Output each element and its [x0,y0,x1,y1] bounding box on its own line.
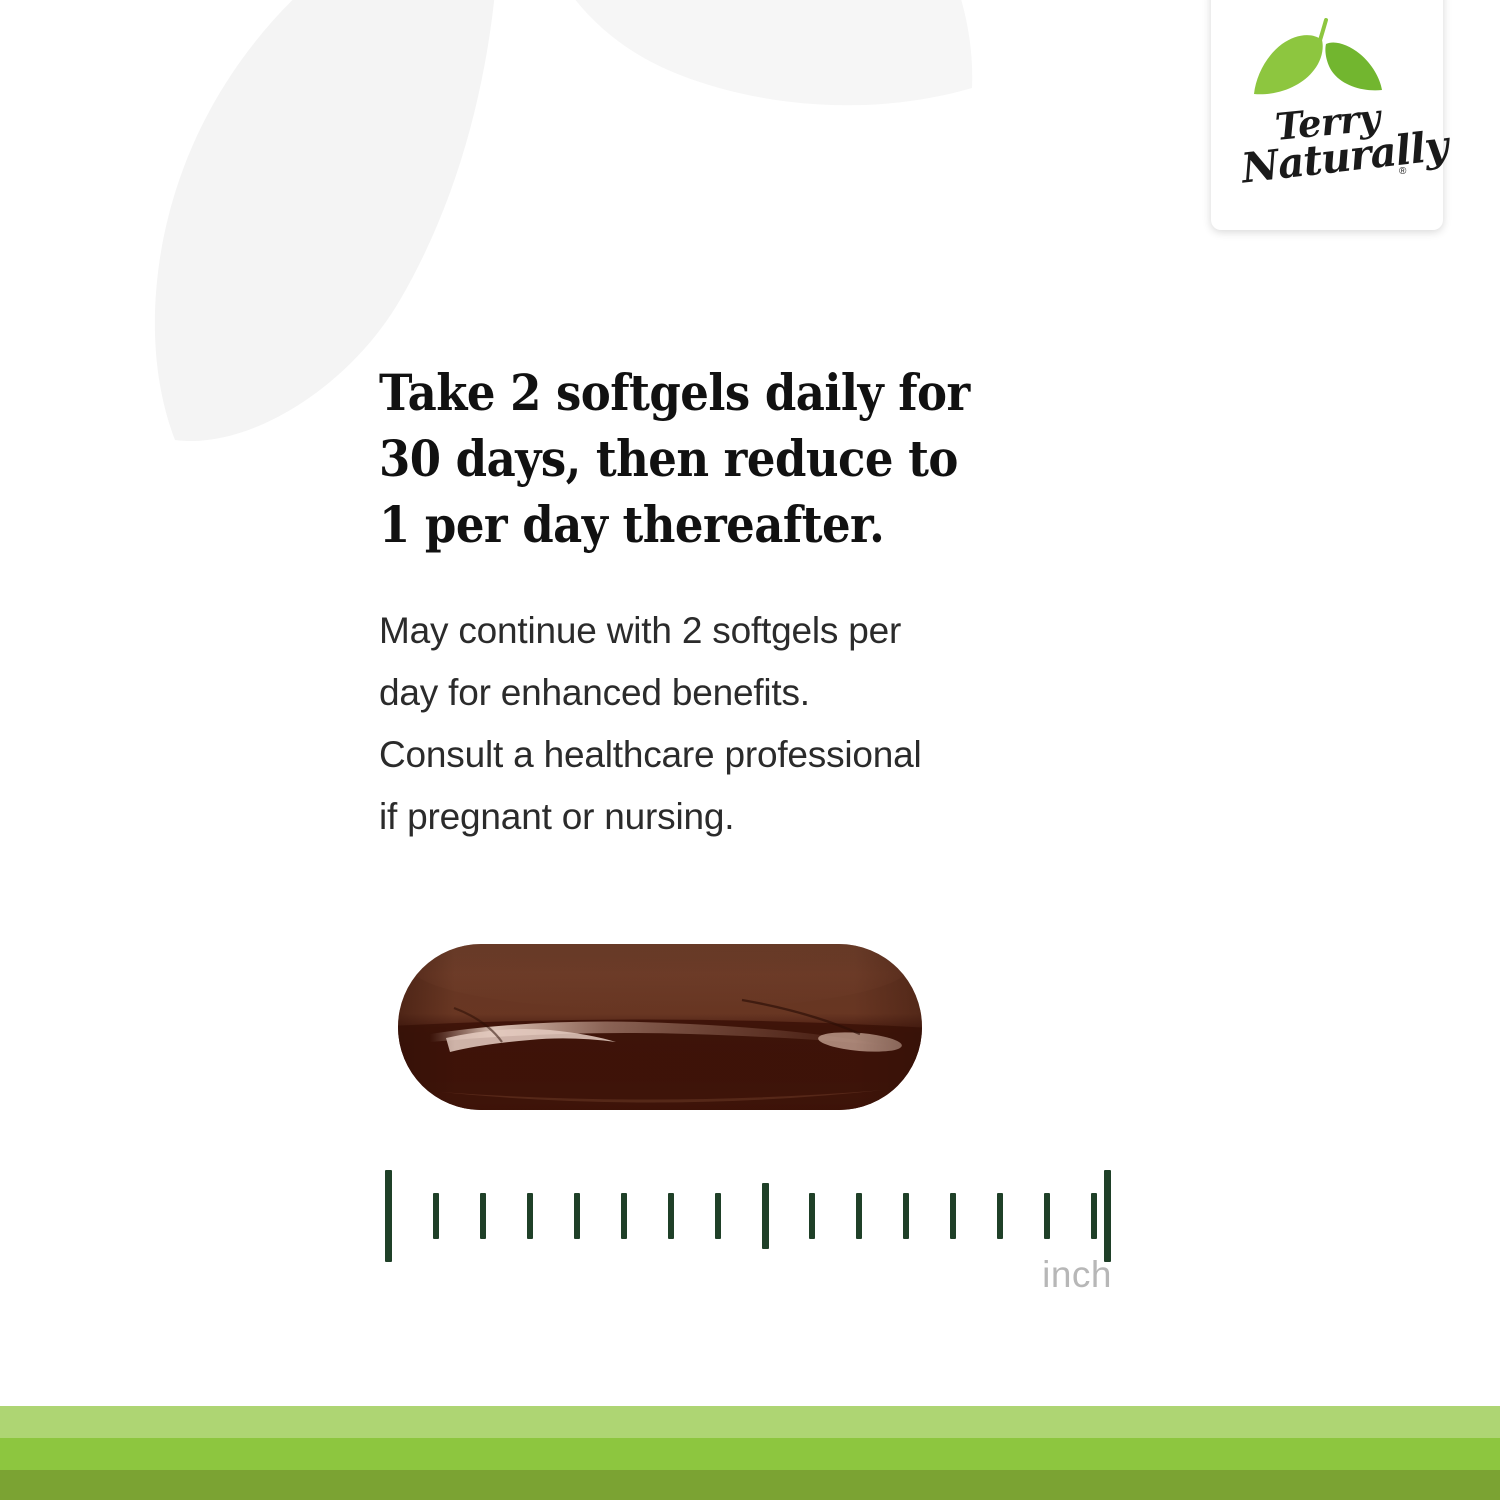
ruler-tick-minor [621,1193,627,1239]
headline-line-3: 1 per day thereafter. [379,492,1027,558]
dosage-content: Take 2 softgels daily for 30 days, then … [379,360,1099,848]
body-line-4: if pregnant or nursing. [379,786,1099,848]
ruler-tick-minor [574,1193,580,1239]
ruler-tick-minor [809,1193,815,1239]
brand-wordmark: Terry Naturally ® [1239,100,1415,186]
ruler-tick-minor [433,1193,439,1239]
ruler-tick-minor [715,1193,721,1239]
ruler-tick-minor [856,1193,862,1239]
footer-color-bars [0,1406,1500,1500]
ruler-tick-minor [1091,1193,1097,1239]
softgel-capsule-image [390,930,930,1120]
dosage-body-text: May continue with 2 softgels per day for… [379,558,1099,848]
footer-band-light [0,1406,1500,1438]
dosage-headline: Take 2 softgels daily for 30 days, then … [379,360,1027,558]
infographic-canvas: Terry Naturally ® Take 2 softgels daily … [0,0,1500,1500]
ruler-tick-major-start [385,1170,392,1262]
ruler-tick-minor [997,1193,1003,1239]
ruler-tick-minor [950,1193,956,1239]
footer-band-mid [0,1438,1500,1470]
body-line-3: Consult a healthcare professional [379,724,1099,786]
footer-band-dark [0,1470,1500,1500]
size-scale-ruler [380,1168,1116,1268]
ruler-tick-minor [903,1193,909,1239]
brand-logo: Terry Naturally ® [1211,2,1443,212]
body-line-2: day for enhanced benefits. [379,662,1099,724]
ruler-tick-minor [480,1193,486,1239]
ruler-tick-half-inch [762,1183,769,1249]
ruler-tick-minor [668,1193,674,1239]
leaf-logo-icon [1252,18,1402,104]
ruler-tick-minor [527,1193,533,1239]
headline-line-2: 30 days, then reduce to [379,426,1027,492]
ruler-tick-major-end [1104,1170,1111,1262]
ruler-unit-label: inch [880,1254,1112,1296]
body-line-1: May continue with 2 softgels per [379,600,1099,662]
brand-logo-card: Terry Naturally ® [1211,0,1443,230]
headline-line-1: Take 2 softgels daily for [379,360,1027,426]
ruler-tick-minor [1044,1193,1050,1239]
brand-wordmark-line2: Naturally [1239,121,1450,192]
registered-trademark-mark: ® [1399,166,1406,177]
